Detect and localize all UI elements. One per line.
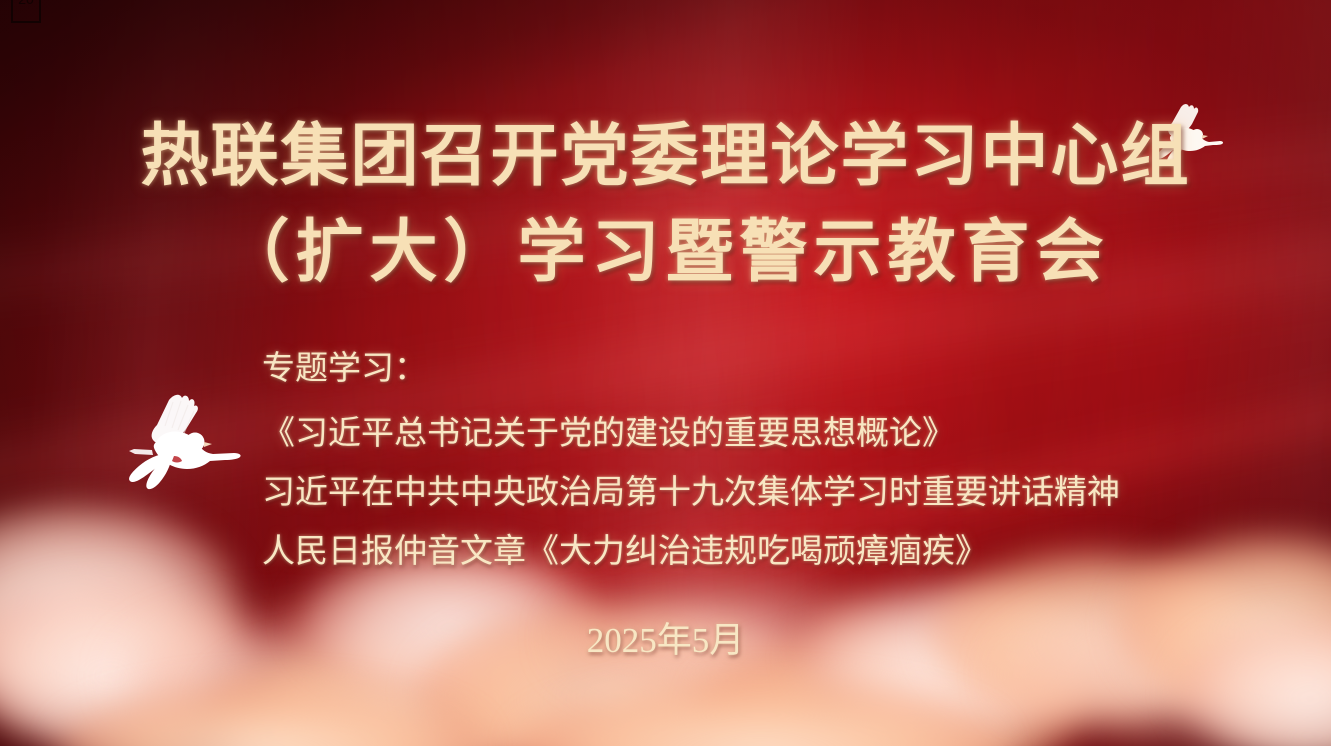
body-item: 《习近平总书记关于党的建设的重要思想概论》 — [262, 405, 1120, 464]
body-item: 人民日报仲音文章《大力纠治违规吃喝顽瘴痼疾》 — [262, 523, 1120, 582]
presentation-slide: 热联集团召开党委理论学习中心组 （扩大）学习暨警示教育会 专题学习： 《习近平总… — [0, 0, 1331, 746]
body-lead-label: 专题学习： — [262, 340, 1120, 399]
slide-number-marker: 20 — [11, 0, 41, 23]
slide-number-label: 20 — [18, 0, 34, 6]
body-item: 习近平在中共中央政治局第十九次集体学习时重要讲话精神 — [262, 464, 1120, 523]
slide-body: 专题学习： 《习近平总书记关于党的建设的重要思想概论》 习近平在中共中央政治局第… — [262, 340, 1120, 582]
slide-title-line-1: 热联集团召开党委理论学习中心组 — [0, 108, 1331, 204]
slide-date: 2025年5月 — [0, 612, 1331, 663]
slide-title: 热联集团召开党委理论学习中心组 （扩大）学习暨警示教育会 — [0, 108, 1331, 300]
slide-title-line-2: （扩大）学习暨警示教育会 — [0, 204, 1331, 300]
